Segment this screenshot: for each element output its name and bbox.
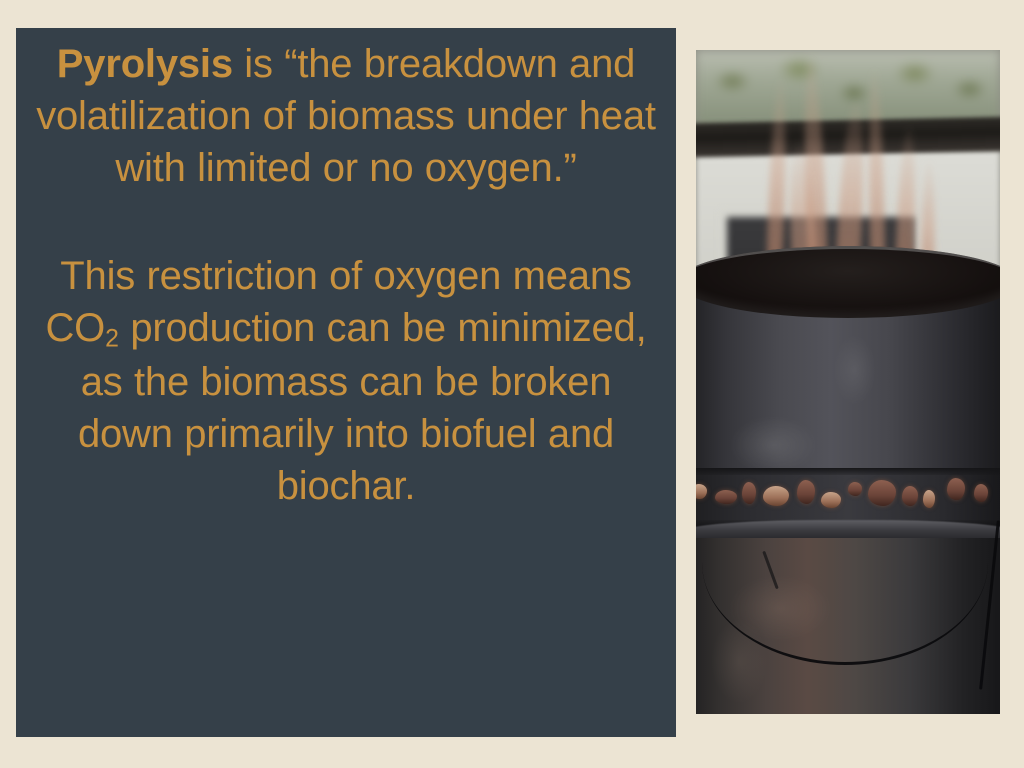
kiln-open-top — [696, 246, 1000, 318]
air-hole-ember — [821, 492, 841, 508]
air-hole-ember — [742, 482, 756, 504]
air-hole-ember — [923, 490, 935, 508]
air-hole-ember — [974, 484, 988, 502]
pyrolysis-kiln-photo — [696, 50, 1000, 714]
air-hole-ember — [797, 480, 815, 504]
air-hole-ember — [763, 486, 789, 506]
paragraph-definition: Pyrolysis is “the breakdown and volatili… — [28, 38, 664, 194]
paragraph-explanation-after: production can be minimized, as the biom… — [78, 306, 647, 508]
background-foliage — [696, 50, 1000, 128]
term-pyrolysis: Pyrolysis — [57, 42, 233, 86]
co2-subscript: 2 — [105, 325, 119, 352]
air-hole-ember — [848, 482, 862, 496]
band-edge-top — [696, 468, 1000, 475]
air-hole-ember — [868, 480, 896, 506]
text-panel: Pyrolysis is “the breakdown and volatili… — [16, 28, 676, 737]
air-hole-ember — [696, 484, 707, 499]
air-hole-ember — [947, 478, 965, 500]
photo-scene — [696, 50, 1000, 714]
air-hole-ember — [715, 490, 737, 504]
paragraph-explanation: This restriction of oxygen means CO2 pro… — [28, 250, 664, 512]
slide-canvas: Pyrolysis is “the breakdown and volatili… — [0, 0, 1024, 768]
air-hole-ember — [902, 486, 918, 506]
